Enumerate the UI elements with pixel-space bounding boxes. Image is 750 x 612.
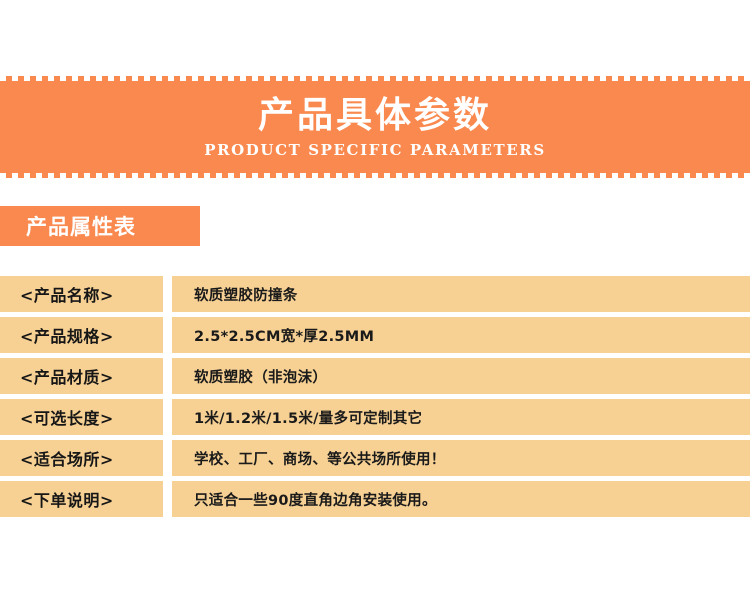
column-gap: [163, 276, 172, 312]
spec-value-label: 2.5*2.5CM宽*厚2.5MM: [194, 325, 374, 346]
spec-value-label: 学校、工厂、商场、等公共场所使用！: [194, 448, 446, 469]
table-row: <适合场所> 学校、工厂、商场、等公共场所使用！: [0, 440, 750, 476]
spec-value-cell: 2.5*2.5CM宽*厚2.5MM: [172, 317, 750, 353]
spec-key-label: <产品规格>: [20, 323, 114, 347]
column-gap: [163, 481, 172, 517]
spec-key-label: <适合场所>: [20, 446, 114, 470]
column-gap: [163, 317, 172, 353]
spec-key-cell: <适合场所>: [0, 440, 163, 476]
spec-key-cell: <可选长度>: [0, 399, 163, 435]
spec-key-label: <下单说明>: [20, 487, 114, 511]
page-title: 产品具体参数: [258, 95, 492, 136]
table-row: <下单说明> 只适合一些90度直角边角安装使用。: [0, 481, 750, 517]
column-gap: [163, 440, 172, 476]
column-gap: [163, 358, 172, 394]
spec-key-label: <产品材质>: [20, 364, 114, 388]
section-tab-product-attributes: 产品属性表: [0, 206, 200, 246]
banner-content: 产品具体参数 PRODUCT SPECIFIC PARAMETERS: [0, 76, 750, 178]
spec-key-cell: <产品材质>: [0, 358, 163, 394]
spec-value-cell: 软质塑胶（非泡沫）: [172, 358, 750, 394]
spec-value-label: 1米/1.2米/1.5米/量多可定制其它: [194, 407, 422, 428]
page-banner: 产品具体参数 PRODUCT SPECIFIC PARAMETERS: [0, 76, 750, 178]
table-row: <产品名称> 软质塑胶防撞条: [0, 276, 750, 312]
spec-key-cell: <产品规格>: [0, 317, 163, 353]
spec-value-cell: 1米/1.2米/1.5米/量多可定制其它: [172, 399, 750, 435]
table-row: <可选长度> 1米/1.2米/1.5米/量多可定制其它: [0, 399, 750, 435]
spec-key-label: <可选长度>: [20, 405, 114, 429]
section-tab-label: 产品属性表: [26, 211, 136, 241]
spec-key-cell: <产品名称>: [0, 276, 163, 312]
spec-value-cell: 只适合一些90度直角边角安装使用。: [172, 481, 750, 517]
page-subtitle: PRODUCT SPECIFIC PARAMETERS: [204, 141, 546, 159]
spec-value-cell: 学校、工厂、商场、等公共场所使用！: [172, 440, 750, 476]
spec-key-label: <产品名称>: [20, 282, 114, 306]
spec-value-label: 只适合一些90度直角边角安装使用。: [194, 489, 437, 510]
column-gap: [163, 399, 172, 435]
spec-value-cell: 软质塑胶防撞条: [172, 276, 750, 312]
spec-key-cell: <下单说明>: [0, 481, 163, 517]
product-spec-table: <产品名称> 软质塑胶防撞条 <产品规格> 2.5*2.5CM宽*厚2.5MM …: [0, 276, 750, 517]
table-row: <产品规格> 2.5*2.5CM宽*厚2.5MM: [0, 317, 750, 353]
spec-value-label: 软质塑胶防撞条: [194, 284, 298, 305]
spec-value-label: 软质塑胶（非泡沫）: [194, 366, 327, 387]
table-row: <产品材质> 软质塑胶（非泡沫）: [0, 358, 750, 394]
banner-bottom-notch-border: [0, 173, 750, 178]
